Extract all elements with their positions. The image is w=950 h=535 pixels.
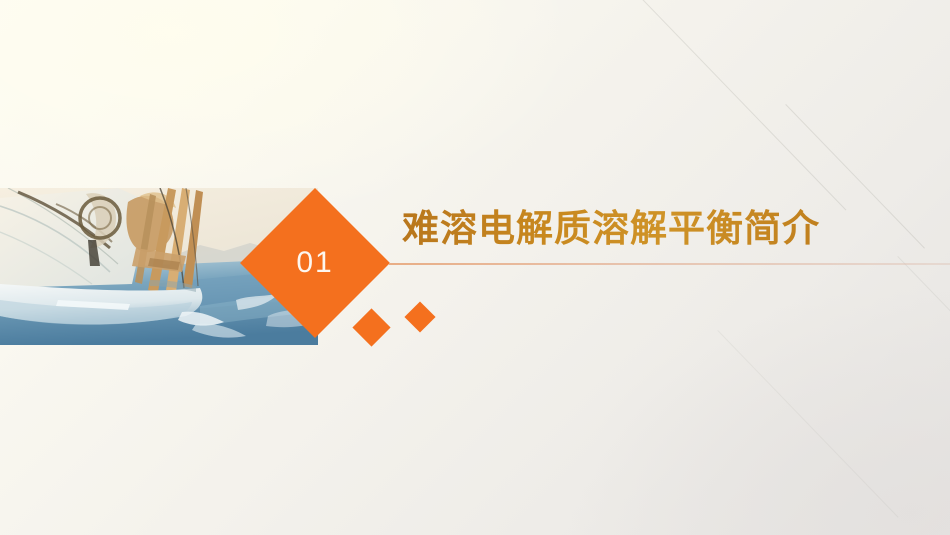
title-underline-rule: [389, 263, 950, 265]
section-title: 难溶电解质溶解平衡简介: [402, 207, 820, 251]
presentation-slide: 01 难溶电解质溶解平衡简介: [0, 0, 950, 535]
